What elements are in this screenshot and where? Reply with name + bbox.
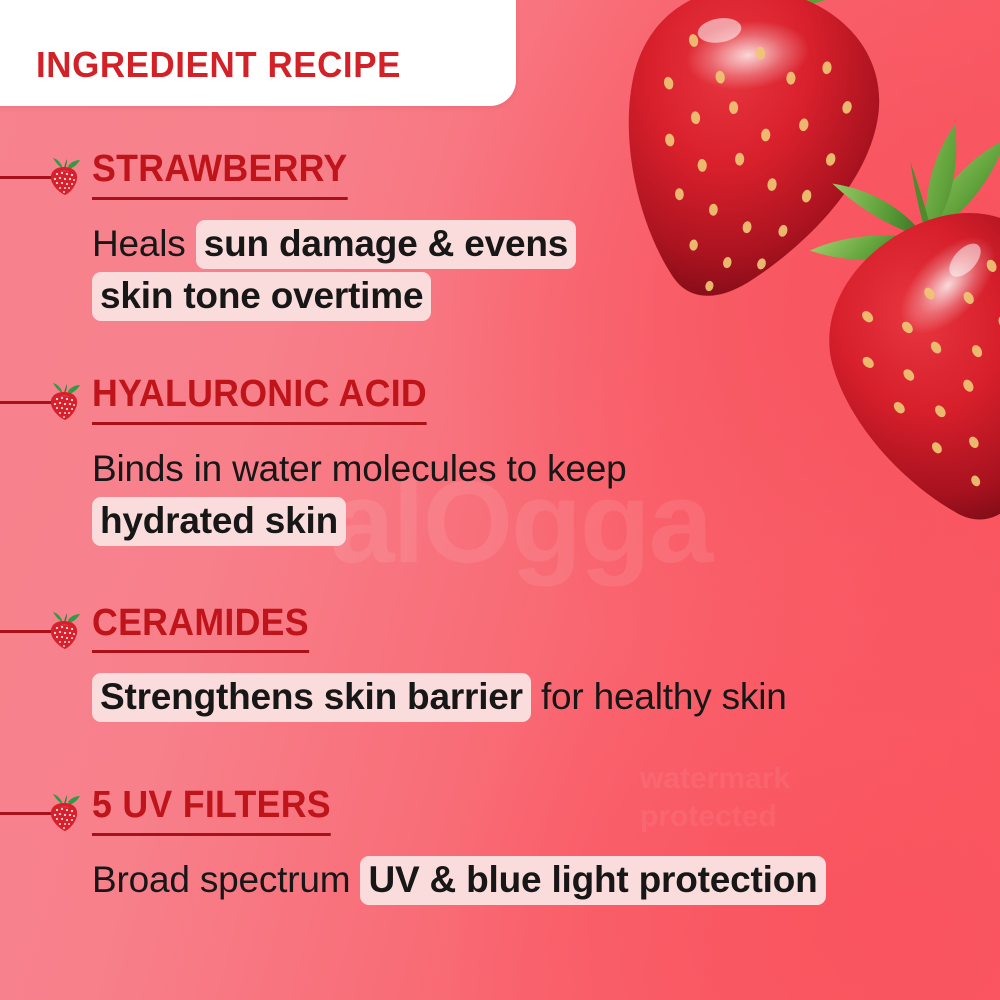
ingredient-name: 5 UV FILTERS	[92, 786, 331, 829]
highlighted-phrase: hydrated skin	[92, 497, 346, 546]
plain-phrase: Broad spectrum	[92, 859, 360, 900]
ingredient-description: Heals sun damage & evensskin tone overti…	[92, 218, 992, 323]
highlighted-phrase: sun damage & evens	[196, 220, 577, 269]
strawberry-icon	[46, 383, 82, 421]
heading-underline	[92, 833, 331, 836]
description-line: hydrated skin	[92, 495, 992, 548]
highlighted-phrase: Strengthens skin barrier	[92, 673, 531, 722]
connector-line	[0, 630, 52, 633]
connector-line	[0, 401, 52, 404]
heading-underline	[92, 650, 309, 653]
plain-phrase: for healthy skin	[531, 676, 787, 717]
connector-line	[0, 812, 52, 815]
header-panel: INGREDIENT RECIPE	[0, 0, 516, 106]
ingredient-name: HYALURONIC ACID	[92, 375, 427, 418]
ingredient-heading-group: 5 UV FILTERS	[92, 786, 346, 836]
ingredient-item: 5 UV FILTERSBroad spectrum UV & blue lig…	[0, 786, 1000, 906]
heading-underline	[92, 197, 348, 200]
description-line: Heals sun damage & evens	[92, 218, 992, 271]
strawberry-icon	[46, 158, 82, 196]
heading-underline	[92, 422, 427, 425]
ingredient-list: STRAWBERRYHeals sun damage & evensskin t…	[0, 150, 1000, 906]
strawberry-icon	[46, 794, 82, 832]
description-line: Strengthens skin barrier for healthy ski…	[92, 671, 992, 724]
ingredient-heading-group: CERAMIDES	[92, 604, 323, 654]
ingredient-description: Strengthens skin barrier for healthy ski…	[92, 671, 992, 724]
ingredient-heading-group: STRAWBERRY	[92, 150, 364, 200]
ingredient-name: CERAMIDES	[92, 604, 309, 647]
ingredient-item: HYALURONIC ACIDBinds in water molecules …	[0, 375, 1000, 548]
poster-canvas: alOgga watermarkprotected	[0, 0, 1000, 1000]
ingredient-name: STRAWBERRY	[92, 150, 348, 193]
strawberry-icon	[46, 612, 82, 650]
page-title: INGREDIENT RECIPE	[36, 44, 401, 86]
ingredient-item: STRAWBERRYHeals sun damage & evensskin t…	[0, 150, 1000, 323]
ingredient-item: CERAMIDESStrengthens skin barrier for he…	[0, 604, 1000, 724]
ingredient-description: Broad spectrum UV & blue light protectio…	[92, 854, 992, 907]
plain-phrase: Heals	[92, 223, 196, 264]
ingredient-heading-group: HYALURONIC ACID	[92, 375, 448, 425]
description-line: skin tone overtime	[92, 270, 992, 323]
highlighted-phrase: skin tone overtime	[92, 272, 431, 321]
description-line: Binds in water molecules to keep	[92, 443, 992, 496]
connector-line	[0, 176, 52, 179]
highlighted-phrase: UV & blue light protection	[360, 856, 825, 905]
ingredient-description: Binds in water molecules to keephydrated…	[92, 443, 992, 548]
description-line: Broad spectrum UV & blue light protectio…	[92, 854, 992, 907]
plain-phrase: Binds in water molecules to keep	[92, 448, 627, 489]
